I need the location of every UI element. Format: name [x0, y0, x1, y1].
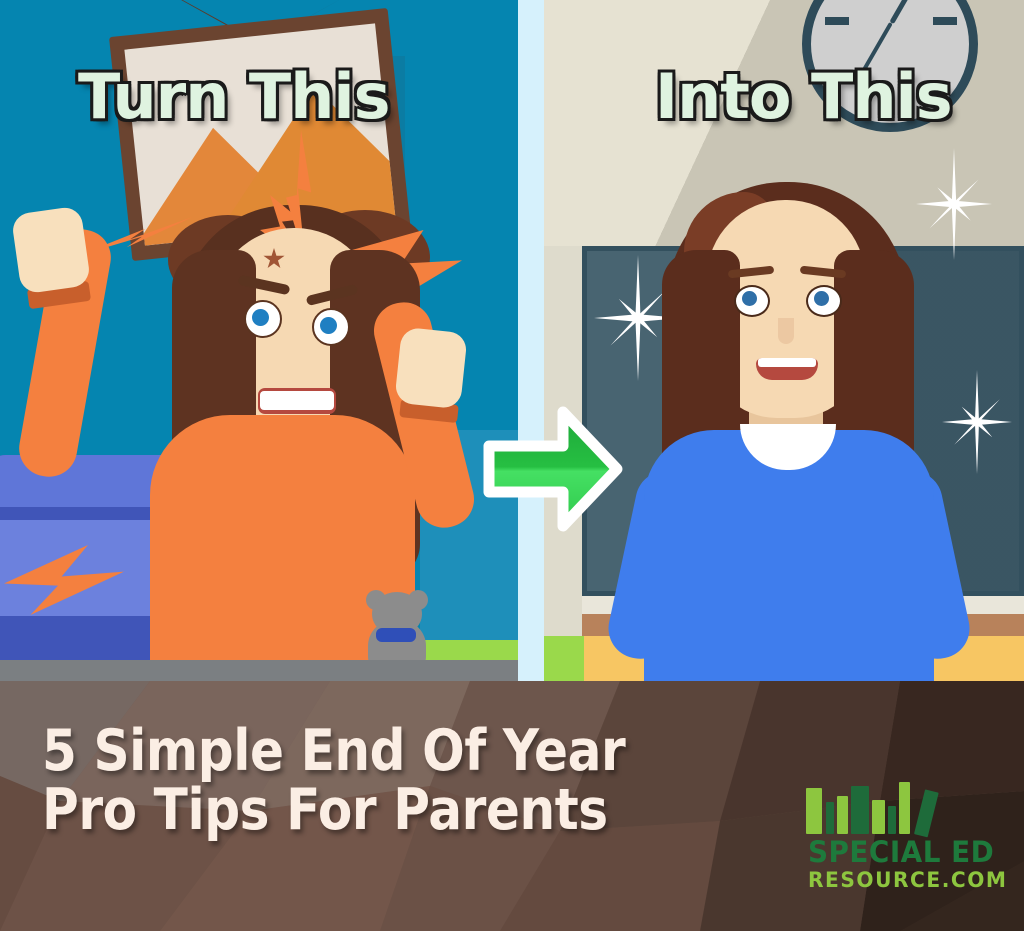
label-turn-this: Turn This	[78, 66, 390, 128]
girl-pupil-left	[252, 309, 269, 326]
logo-line-2: RESOURCE.COM	[808, 870, 1008, 891]
logo-line-1: SPECIAL ED	[808, 838, 994, 867]
green-right-arrow-icon	[483, 404, 623, 534]
clock-tick-left	[825, 17, 849, 25]
bear-bowtie	[376, 628, 416, 642]
label-into-this: Into This	[655, 66, 952, 128]
girl-fist-right	[394, 327, 468, 409]
poster-image: Turn This Into This 5 Simple End Of Year…	[0, 0, 1024, 931]
clock-tick-right	[933, 17, 957, 25]
girl-pupil-right	[320, 317, 337, 334]
woman-pupil-right	[814, 291, 829, 306]
woman-mouth	[756, 358, 818, 380]
clock-hand-hour	[889, 0, 919, 24]
special-ed-resource-logo[interactable]: SPECIAL ED RESOURCE.COM	[806, 782, 1006, 902]
girl-fist-left	[11, 206, 91, 295]
girl-mouth	[258, 388, 336, 414]
panel-divider	[518, 0, 544, 681]
floor-green-strip	[544, 636, 584, 681]
banner-headline: 5 Simple End Of Year Pro Tips For Parent…	[42, 722, 684, 839]
woman-pupil-left	[742, 291, 757, 306]
woman-teeth	[758, 358, 816, 367]
headline-line-2: Pro Tips For Parents	[42, 781, 684, 840]
desk-surface	[0, 660, 518, 681]
sparkle-icon	[942, 370, 1012, 474]
sparkle-icon	[916, 148, 992, 260]
woman-nose	[778, 318, 794, 344]
logo-books-icon	[806, 782, 1006, 834]
girl-teeth	[260, 391, 334, 410]
headline-line-1: 5 Simple End Of Year	[42, 722, 684, 781]
